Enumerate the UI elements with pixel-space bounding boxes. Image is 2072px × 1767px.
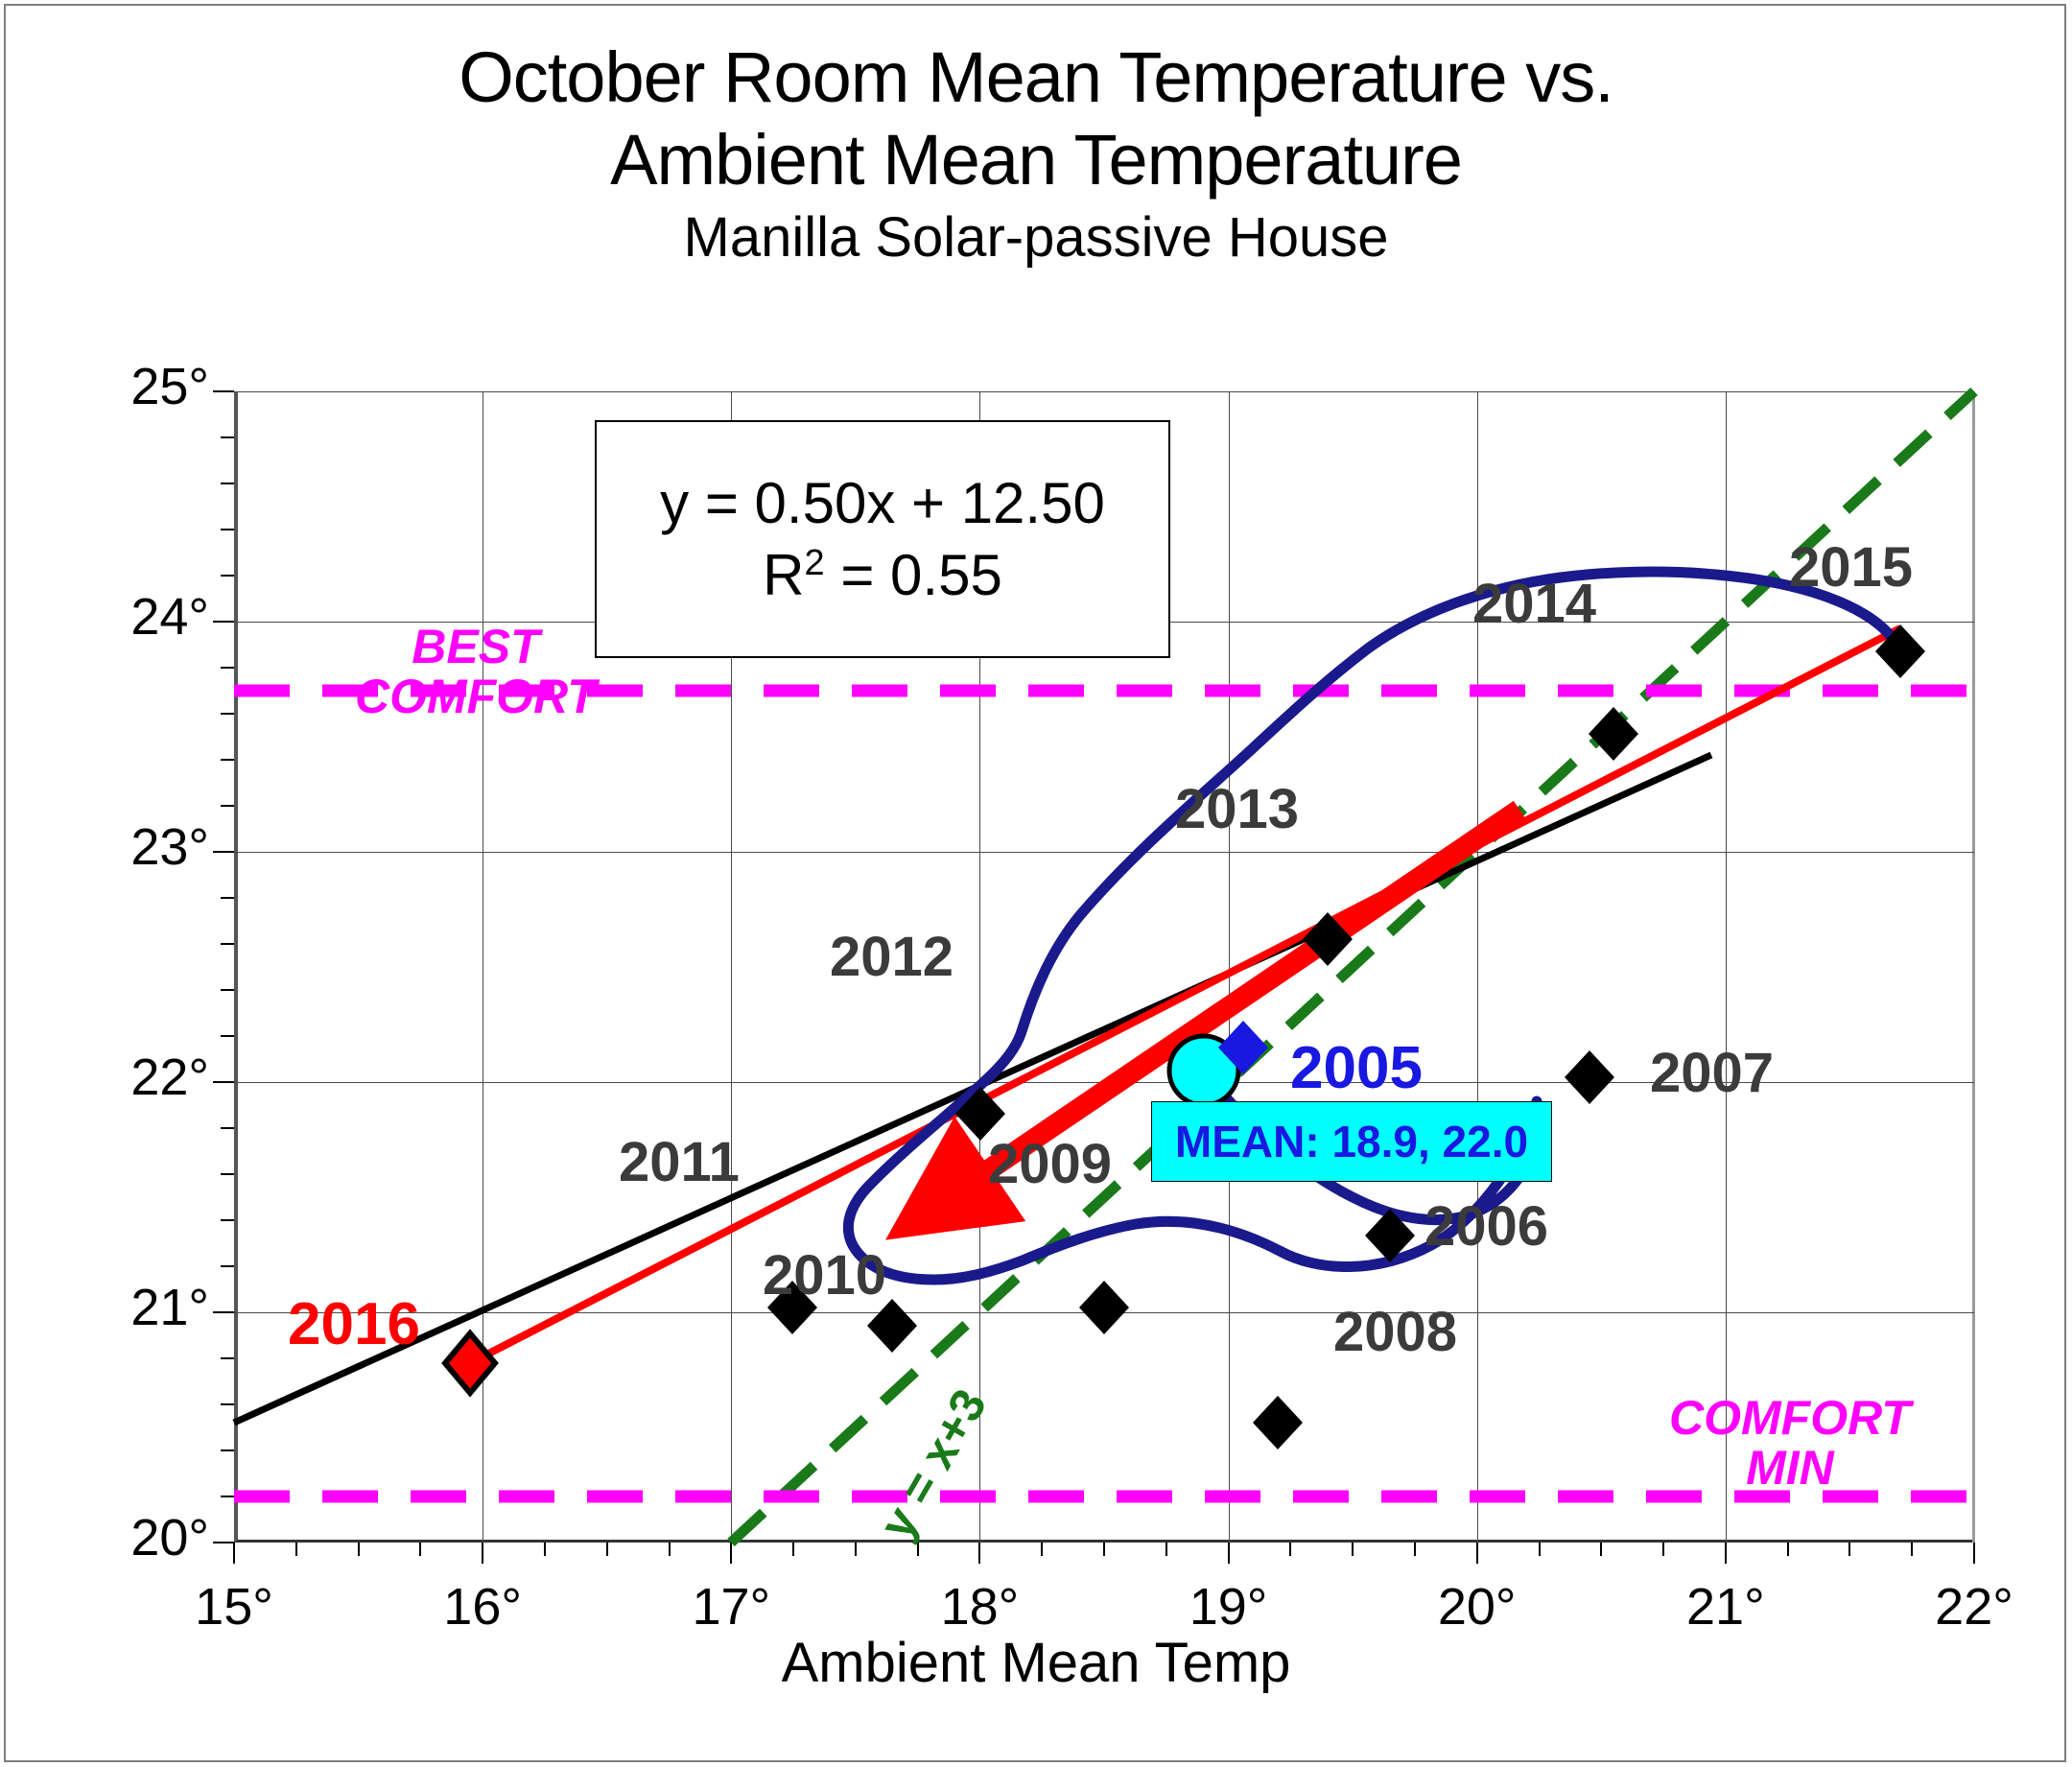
- year-label-2010: 2010: [763, 1243, 886, 1308]
- x-axis-tick-label: 15°: [148, 1577, 320, 1637]
- x-axis-minor-tick: [1662, 1543, 1664, 1556]
- x-axis-tick: [730, 1543, 732, 1564]
- y-axis-minor-tick: [221, 989, 234, 991]
- y-axis-minor-tick: [221, 483, 234, 484]
- x-axis-minor-tick: [1600, 1543, 1602, 1556]
- marker-2014: [1589, 707, 1638, 761]
- x-axis-tick: [1476, 1543, 1478, 1564]
- marker-2016: [445, 1333, 495, 1393]
- chart-title-line-1: October Room Mean Temperature vs.: [0, 36, 2072, 119]
- y-axis-minor-tick: [221, 943, 234, 945]
- x-axis-minor-tick: [544, 1543, 546, 1556]
- year-label-2013: 2013: [1175, 777, 1299, 841]
- year-label-2008: 2008: [1333, 1300, 1457, 1364]
- best-comfort-label: BEST COMFORT: [355, 622, 597, 721]
- x-axis-minor-tick: [1414, 1543, 1416, 1556]
- x-axis-tick: [233, 1543, 235, 1564]
- r-squared-prefix: R: [763, 543, 804, 607]
- y-axis-minor-tick: [221, 1449, 234, 1451]
- x-axis-minor-tick: [1041, 1543, 1043, 1556]
- r-squared-value: R2 = 0.55: [763, 539, 1002, 611]
- x-axis-minor-tick: [855, 1543, 857, 1556]
- x-axis-tick-label: 20°: [1391, 1577, 1564, 1637]
- year-label-2007: 2007: [1650, 1041, 1774, 1105]
- r-squared-exponent: 2: [805, 543, 825, 583]
- y-axis-minor-tick: [221, 805, 234, 807]
- y-axis-tick-label: 21°: [130, 1278, 209, 1337]
- x-axis-tick: [482, 1543, 483, 1564]
- x-axis-minor-tick: [1539, 1543, 1541, 1556]
- year-label-2014: 2014: [1472, 572, 1596, 636]
- y-axis-minor-tick: [221, 1173, 234, 1175]
- r-squared-rest: = 0.55: [825, 543, 1002, 607]
- best-comfort-label-line-2: COMFORT: [355, 671, 597, 721]
- y-axis-minor-tick: [221, 1403, 234, 1405]
- y-axis-minor-tick: [221, 1035, 234, 1037]
- best-comfort-label-line-1: BEST: [355, 622, 597, 671]
- red-trend-line: [470, 628, 1900, 1363]
- y-axis-minor-tick: [221, 1357, 234, 1359]
- regression-equation-box: y = 0.50x + 12.50 R2 = 0.55: [595, 420, 1170, 658]
- y-axis-minor-tick: [221, 667, 234, 669]
- y-axis-tick-label: 20°: [130, 1508, 209, 1567]
- y-axis-minor-tick: [221, 713, 234, 715]
- comfort-min-label-line-1: COMFORT: [1669, 1393, 1911, 1443]
- year-label-2009: 2009: [988, 1132, 1112, 1196]
- y-axis-minor-tick: [221, 529, 234, 530]
- chart-title-block: October Room Mean Temperature vs. Ambien…: [0, 36, 2072, 274]
- y-axis-minor-tick: [221, 1265, 234, 1267]
- x-axis-tick-label: 21°: [1639, 1577, 1812, 1637]
- y-axis-minor-tick: [221, 1127, 234, 1129]
- chart-subtitle: Manilla Solar-passive House: [0, 201, 2072, 274]
- mean-callout-box: MEAN: 18.9, 22.0: [1151, 1101, 1552, 1182]
- y-axis-tick-label: 25°: [130, 357, 209, 416]
- y-axis-tick: [213, 1542, 234, 1543]
- x-axis-tick-label: 18°: [893, 1577, 1066, 1637]
- comfort-min-label-line-2: MIN: [1669, 1443, 1911, 1493]
- y-axis-tick: [213, 1311, 234, 1313]
- year-label-2005: 2005: [1290, 1034, 1423, 1102]
- year-label-2016: 2016: [288, 1290, 420, 1358]
- chart-title-line-2: Ambient Mean Temperature: [0, 119, 2072, 201]
- x-axis-minor-tick: [358, 1543, 360, 1556]
- y-axis-tick-label: 24°: [130, 587, 209, 647]
- marker-2007: [1565, 1050, 1614, 1104]
- y-axis-tick-label: 22°: [130, 1048, 209, 1107]
- x-axis-minor-tick: [1911, 1543, 1913, 1556]
- x-axis-minor-tick: [606, 1543, 608, 1556]
- y-axis-minor-tick: [221, 436, 234, 438]
- y-axis-tick: [213, 1081, 234, 1083]
- mean-callout-label: MEAN: 18.9, 22.0: [1175, 1116, 1528, 1167]
- y-axis-tick: [213, 390, 234, 392]
- x-axis-minor-tick: [792, 1543, 794, 1556]
- year-label-2011: 2011: [619, 1130, 740, 1194]
- marker-2009: [1079, 1281, 1129, 1334]
- marker-2008: [1253, 1396, 1303, 1449]
- x-axis-tick: [1725, 1543, 1727, 1564]
- x-axis-tick-label: 16°: [396, 1577, 569, 1637]
- x-axis-minor-tick: [1103, 1543, 1105, 1556]
- comfort-min-label: COMFORT MIN: [1669, 1393, 1911, 1493]
- x-axis-tick: [1973, 1543, 1975, 1564]
- year-label-2015: 2015: [1789, 535, 1913, 600]
- x-axis-tick: [1228, 1543, 1230, 1564]
- x-axis-minor-tick: [1848, 1543, 1850, 1556]
- y-axis-minor-tick: [221, 1496, 234, 1497]
- y-axis-tick-label: 23°: [130, 817, 209, 877]
- regression-equation: y = 0.50x + 12.50: [660, 467, 1105, 539]
- x-axis-minor-tick: [419, 1543, 421, 1556]
- x-axis-minor-tick: [669, 1543, 671, 1556]
- y-axis-minor-tick: [221, 575, 234, 577]
- y-axis-tick: [213, 851, 234, 853]
- x-axis-minor-tick: [1165, 1543, 1167, 1556]
- year-label-2006: 2006: [1424, 1194, 1548, 1259]
- x-axis-tick: [978, 1543, 980, 1564]
- x-axis-tick-label: 17°: [645, 1577, 817, 1637]
- x-axis-title: Ambient Mean Temp: [0, 1631, 2072, 1695]
- y-axis-minor-tick: [221, 897, 234, 899]
- x-axis-minor-tick: [1289, 1543, 1291, 1556]
- x-axis-minor-tick: [1352, 1543, 1354, 1556]
- x-axis-tick-label: 19°: [1142, 1577, 1315, 1637]
- x-axis-tick-label: 22°: [1888, 1577, 2060, 1637]
- x-axis-minor-tick: [1787, 1543, 1789, 1556]
- x-axis-minor-tick: [295, 1543, 297, 1556]
- y-axis-tick: [213, 621, 234, 623]
- year-label-2012: 2012: [830, 925, 954, 989]
- y-axis-minor-tick: [221, 759, 234, 761]
- y-axis-minor-tick: [221, 1219, 234, 1221]
